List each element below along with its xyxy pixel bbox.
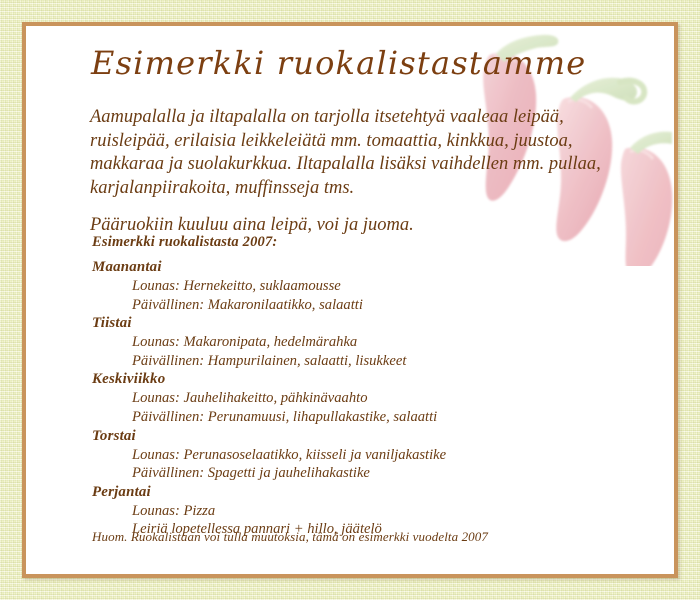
meal-line: Lounas: Jauhelihakeitto, pähkinävaahto: [132, 389, 592, 408]
day-name: Maanantai: [92, 258, 592, 277]
day-name: Perjantai: [92, 483, 592, 502]
menu-page: Esimerkki ruokalistastamme Aamupalalla j…: [26, 26, 674, 574]
menu-list-heading: Esimerkki ruokalistasta 2007:: [92, 234, 277, 251]
meal-line: Lounas: Hernekeitto, suklaamousse: [132, 277, 592, 296]
meal-line: Päivällinen: Hampurilainen, salaatti, li…: [132, 352, 592, 371]
footnote-text: Huom. Ruokalistaan voi tulla muutoksia, …: [92, 529, 488, 545]
day-name: Keskiviikko: [92, 370, 592, 389]
day-name: Torstai: [92, 427, 592, 446]
meal-line: Päivällinen: Spagetti ja jauhelihakastik…: [132, 464, 592, 483]
intro-paragraph-1: Aamupalalla ja iltapalalla on tarjolla i…: [90, 106, 602, 200]
menu-day: Torstai Lounas: Perunasoselaatikko, kiis…: [92, 427, 592, 483]
meal-line: Päivällinen: Makaronilaatikko, salaatti: [132, 296, 592, 315]
menu-day: Tiistai Lounas: Makaronipata, hedelmärah…: [92, 314, 592, 370]
page-border: Esimerkki ruokalistastamme Aamupalalla j…: [22, 22, 678, 578]
meal-line: Lounas: Perunasoselaatikko, kiisseli ja …: [132, 446, 592, 465]
page-title: Esimerkki ruokalistastamme: [91, 44, 586, 82]
menu-day: Keskiviikko Lounas: Jauhelihakeitto, päh…: [92, 370, 592, 426]
meal-line: Päivällinen: Perunamuusi, lihapullakasti…: [132, 408, 592, 427]
intro-text: Aamupalalla ja iltapalalla on tarjolla i…: [90, 106, 602, 238]
meal-line: Lounas: Pizza: [132, 502, 592, 521]
weekly-menu-list: Maanantai Lounas: Hernekeitto, suklaamou…: [92, 258, 592, 539]
day-name: Tiistai: [92, 314, 592, 333]
menu-day: Maanantai Lounas: Hernekeitto, suklaamou…: [92, 258, 592, 314]
meal-line: Lounas: Makaronipata, hedelmärahka: [132, 333, 592, 352]
